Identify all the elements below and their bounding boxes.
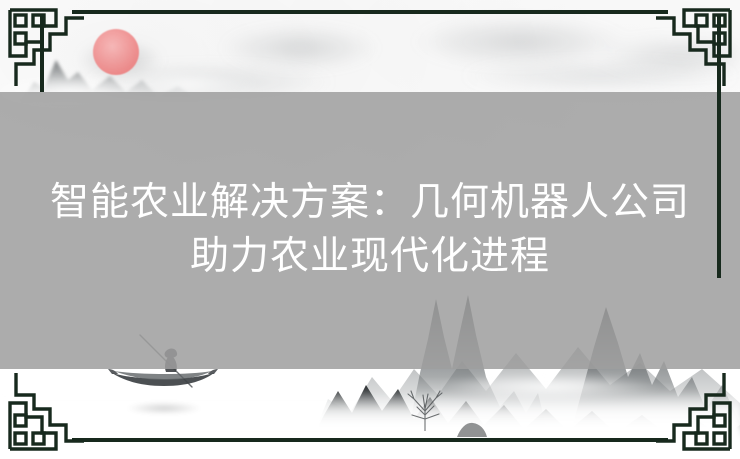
bare-tree-icon	[396, 385, 454, 431]
page-title-line-2: 助力农业现代化进程	[190, 234, 550, 279]
mountain-fog-base	[0, 391, 740, 443]
riverside-rock-icon	[455, 419, 489, 437]
red-sun-icon	[93, 29, 139, 75]
page-title-line-1: 智能农业解决方案：几何机器人公司	[50, 180, 690, 225]
boat-reflection	[112, 395, 216, 417]
page-title: 智能农业解决方案：几何机器人公司助力农业现代化进程	[0, 176, 740, 284]
ink-wash-title-poster: 智能农业解决方案：几何机器人公司助力农业现代化进程	[0, 0, 740, 459]
